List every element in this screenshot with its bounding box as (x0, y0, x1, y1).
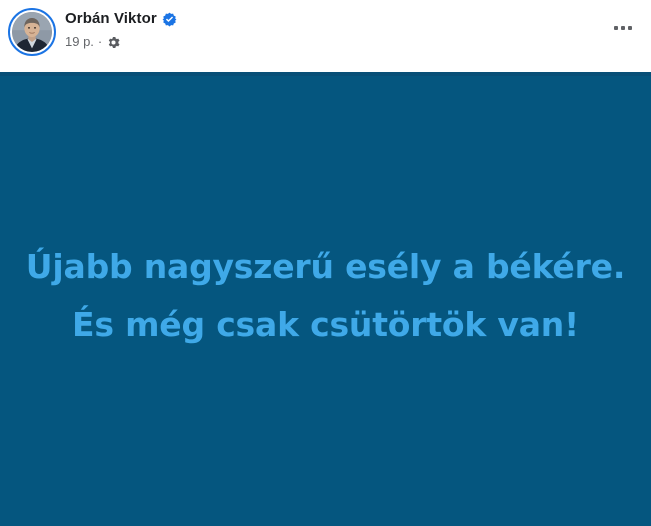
verified-check-icon[interactable] (162, 12, 177, 27)
post-meta: 19 p. · (65, 33, 120, 51)
gear-icon[interactable] (107, 36, 120, 49)
meta-separator: · (98, 33, 102, 51)
headline-line-2: És még csak csütörtök van! (72, 296, 579, 354)
author-name[interactable]: Orbán Viktor (65, 9, 157, 29)
dot-1 (614, 26, 618, 30)
avatar[interactable] (8, 8, 56, 56)
headline-line-1: Újabb nagyszerű esély a békére. (26, 238, 625, 296)
dot-2 (621, 26, 625, 30)
image-text-block: Újabb nagyszerű esély a békére. És még c… (0, 72, 651, 526)
post-image[interactable]: Újabb nagyszerű esély a békére. És még c… (0, 72, 651, 526)
facebook-post: Orbán Viktor 19 p. · (0, 0, 651, 526)
three-dots-icon[interactable] (607, 12, 639, 44)
dot-3 (628, 26, 632, 30)
author-row: Orbán Viktor (65, 9, 177, 29)
post-timestamp[interactable]: 19 p. (65, 33, 94, 51)
post-header: Orbán Viktor 19 p. · (0, 0, 651, 72)
profile-photo (12, 12, 52, 52)
